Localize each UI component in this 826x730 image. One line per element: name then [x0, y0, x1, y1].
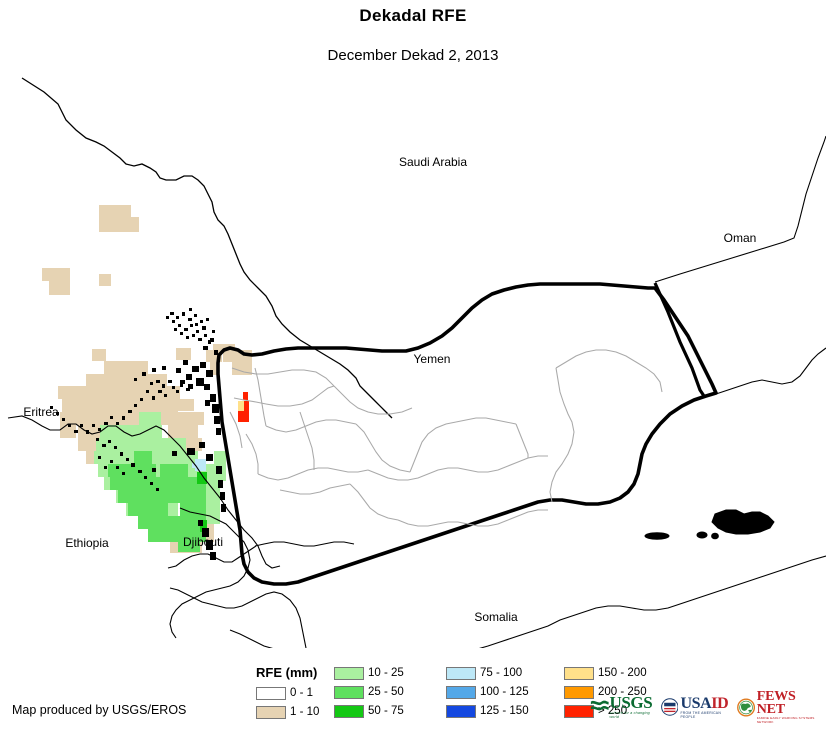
legend-label-100-125: 100 - 125 [480, 686, 529, 699]
legend-swatch-75-100 [446, 667, 476, 680]
usaid-logo[interactable]: USAID FROM THE AMERICAN PEOPLE [661, 691, 731, 723]
legend-label-25-50: 25 - 50 [368, 686, 404, 699]
legend-column-0: 0 - 1 1 - 10 [256, 685, 319, 723]
usgs-wave-icon [590, 697, 609, 717]
legend-label-50-75: 50 - 75 [368, 705, 404, 718]
fews-net-wordmark: FEWS NET [757, 690, 822, 716]
legend-swatch-0-1 [256, 687, 286, 700]
legend-label-125-150: 125 - 150 [480, 705, 529, 718]
legend-item-10-25[interactable]: 10 - 25 [334, 665, 404, 682]
country-label-ethiopia: Ethiopia [65, 536, 109, 550]
usgs-wordmark: USGS [609, 695, 654, 711]
legend-swatch-25-50 [334, 686, 364, 699]
legend-item-100-125[interactable]: 100 - 125 [446, 684, 529, 701]
usgs-logo[interactable]: USGS science for a changing world [590, 691, 655, 723]
map-svg: Saudi Arabia Oman Yemen Eritrea Ethiopia… [0, 68, 826, 648]
usaid-tagline: FROM THE AMERICAN PEOPLE [680, 711, 730, 719]
map-credit: Map produced by USGS/EROS [12, 703, 186, 717]
legend-swatch-125-150 [446, 705, 476, 718]
usaid-wordmark-blue: USA [680, 695, 711, 712]
legend-label-150-200: 150 - 200 [598, 667, 647, 680]
legend-item-150-200[interactable]: 150 - 200 [564, 665, 647, 682]
usaid-wordmark: USAID [680, 696, 730, 711]
legend-swatch-100-125 [446, 686, 476, 699]
fews-globe-icon [737, 697, 755, 718]
legend-column-2: 75 - 100 100 - 125 125 - 150 [446, 665, 529, 722]
page-subtitle: December Dekad 2, 2013 [0, 47, 826, 64]
fews-net-logo[interactable]: FEWS NET FAMINE EARLY WARNING SYSTEMS NE… [737, 691, 822, 723]
legend-item-1-10[interactable]: 1 - 10 [256, 704, 319, 721]
usaid-wordmark-red: ID [711, 695, 728, 712]
legend-swatch-150-200 [564, 667, 594, 680]
map-canvas[interactable]: Saudi Arabia Oman Yemen Eritrea Ethiopia… [0, 68, 826, 648]
fews-net-tagline: FAMINE EARLY WARNING SYSTEMS NETWORK [757, 716, 822, 724]
country-label-oman: Oman [724, 231, 757, 245]
legend-title: RFE (mm) [256, 665, 317, 680]
country-label-yemen: Yemen [414, 352, 451, 366]
country-label-eritrea: Eritrea [23, 405, 59, 419]
country-label-somalia: Somalia [474, 610, 518, 624]
usgs-tagline: science for a changing world [609, 711, 654, 719]
legend-item-25-50[interactable]: 25 - 50 [334, 684, 404, 701]
legend-swatch-50-75 [334, 705, 364, 718]
legend-swatch-1-10 [256, 706, 286, 719]
country-label-djibouti: Djibouti [183, 535, 223, 549]
map-page: Dekadal RFE December Dekad 2, 2013 [0, 0, 826, 730]
country-label-saudi-arabia: Saudi Arabia [399, 155, 467, 169]
legend: RFE (mm) 0 - 1 1 - 10 10 - 25 25 - 50 [256, 665, 576, 723]
logo-bar: USGS science for a changing world USAID … [590, 690, 822, 724]
rfe-class-150-200 [238, 401, 244, 411]
legend-item-50-75[interactable]: 50 - 75 [334, 703, 404, 720]
legend-label-1-10: 1 - 10 [290, 706, 319, 719]
legend-item-125-150[interactable]: 125 - 150 [446, 703, 529, 720]
legend-label-0-1: 0 - 1 [290, 687, 313, 700]
legend-item-75-100[interactable]: 75 - 100 [446, 665, 529, 682]
usaid-seal-icon [661, 697, 679, 717]
page-title: Dekadal RFE [0, 6, 826, 26]
legend-label-75-100: 75 - 100 [480, 667, 522, 680]
legend-item-0-1[interactable]: 0 - 1 [256, 685, 319, 702]
legend-label-10-25: 10 - 25 [368, 667, 404, 680]
legend-swatch-10-25 [334, 667, 364, 680]
legend-column-1: 10 - 25 25 - 50 50 - 75 [334, 665, 404, 722]
